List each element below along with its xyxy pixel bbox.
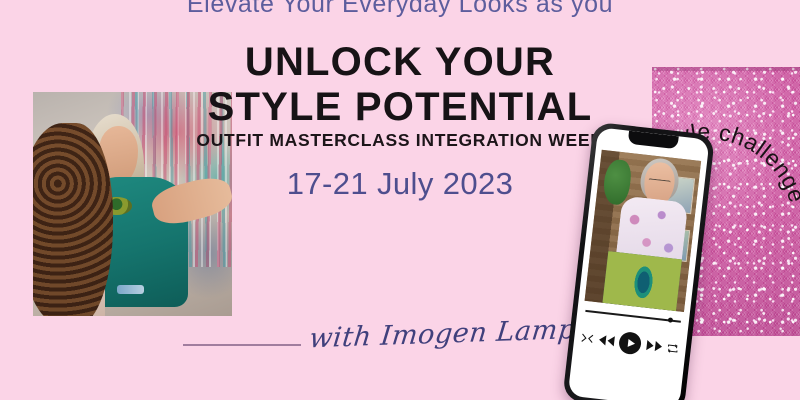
curly-hair bbox=[33, 123, 113, 316]
kicker-text: Elevate Your Everyday Looks as you bbox=[0, 0, 800, 19]
glitter-panel-edge bbox=[652, 67, 800, 71]
signature-rule bbox=[183, 344, 301, 346]
play-icon[interactable] bbox=[618, 331, 642, 355]
headline-line-1: UNLOCK YOUR bbox=[245, 40, 555, 84]
progress-bar[interactable] bbox=[585, 309, 681, 324]
wristband bbox=[117, 285, 145, 294]
repeat-icon[interactable] bbox=[666, 342, 679, 354]
player-controls bbox=[580, 325, 680, 362]
shuffle-icon[interactable] bbox=[581, 332, 594, 345]
fast-forward-icon[interactable] bbox=[645, 339, 663, 353]
rewind-icon[interactable] bbox=[597, 334, 615, 348]
progress-knob[interactable] bbox=[667, 317, 673, 323]
promo-banner: Elevate Your Everyday Looks as you UNLOC… bbox=[0, 0, 800, 400]
play-triangle bbox=[627, 339, 635, 348]
peacock-print-fabric bbox=[602, 251, 681, 311]
phone-mockup bbox=[562, 122, 715, 400]
video-thumbnail[interactable] bbox=[585, 150, 702, 312]
progress-track bbox=[585, 310, 681, 322]
